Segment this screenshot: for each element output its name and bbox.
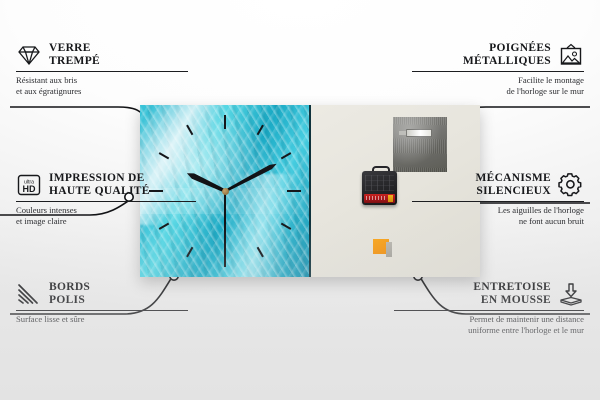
callout-subtitle: Couleurs intenses et image claire	[16, 205, 196, 226]
callout-title-line1: BORDS	[49, 281, 90, 293]
callout-title-line2: HAUTE QUALITÉ	[49, 185, 150, 197]
callout-subtitle-line1: Surface lisse et sûre	[16, 314, 85, 324]
ultra-hd-icon: ultra HD	[16, 173, 42, 197]
foam-spacer-icon	[558, 282, 584, 306]
battery	[364, 194, 395, 203]
callout-header: BORDS POLIS	[16, 281, 188, 307]
callout-divider	[412, 201, 584, 202]
mechanism-body	[362, 171, 397, 205]
svg-text:HD: HD	[23, 184, 36, 194]
callout-title: IMPRESSION DE HAUTE QUALITÉ	[49, 172, 150, 198]
callout-subtitle-line1: Couleurs intenses	[16, 205, 77, 215]
callout-subtitle-line2: uniforme entre l'horloge et le mur	[468, 325, 584, 335]
callout-subtitle-line2: et aux égratignures	[16, 86, 81, 96]
callout-bords-polis: BORDS POLIS Surface lisse et sûre	[16, 281, 188, 325]
callout-subtitle-line1: Permet de maintenir une distance	[469, 314, 584, 324]
callout-title-line2: TREMPÉ	[49, 55, 100, 67]
clock-center-cap	[222, 188, 229, 195]
callout-title: VERRE TREMPÉ	[49, 42, 100, 68]
callout-subtitle-line1: Facilite le montage	[518, 75, 584, 85]
callout-subtitle-line2: ne font aucun bruit	[519, 216, 584, 226]
callout-title-line1: VERRE	[49, 42, 91, 54]
connector-verre-trempe	[10, 107, 152, 124]
callout-title-line2: SILENCIEUX	[476, 185, 551, 197]
callout-title-line1: IMPRESSION DE	[49, 172, 145, 184]
callout-verre-trempe: VERRE TREMPÉ Résistant aux bris et aux é…	[16, 42, 188, 96]
callout-title-line1: ENTRETOISE	[473, 281, 551, 293]
callout-divider	[16, 71, 188, 72]
callout-title-line1: POIGNÉES	[489, 42, 551, 54]
clock-movement-mechanism	[362, 171, 397, 205]
callout-title-line2: MÉTALLIQUES	[463, 55, 551, 67]
callout-subtitle: Résistant aux bris et aux égratignures	[16, 75, 188, 96]
polished-edges-icon	[16, 282, 42, 306]
clock-tick-3	[225, 190, 301, 192]
callout-title: ENTRETOISE EN MOUSSE	[473, 281, 551, 307]
callout-title: BORDS POLIS	[49, 281, 90, 307]
infographic-canvas: VERRE TREMPÉ Résistant aux bris et aux é…	[0, 0, 600, 400]
callout-header: POIGNÉES MÉTALLIQUES	[412, 42, 584, 68]
callout-title-line1: MÉCANISME	[475, 172, 551, 184]
callout-poignees-metalliques: POIGNÉES MÉTALLIQUES Facilite le montage…	[412, 42, 584, 96]
clock-tick-12	[224, 115, 226, 191]
callout-title: MÉCANISME SILENCIEUX	[475, 172, 551, 198]
callout-header: MÉCANISME SILENCIEUX	[412, 172, 584, 198]
callout-subtitle-line2: et image claire	[16, 216, 67, 226]
callout-mecanisme-silencieux: MÉCANISME SILENCIEUX Les aiguilles de l'…	[412, 172, 584, 226]
callout-subtitle-line1: Les aiguilles de l'horloge	[498, 205, 584, 215]
callout-title-line2: POLIS	[49, 294, 85, 306]
callout-title: POIGNÉES MÉTALLIQUES	[463, 42, 551, 68]
metal-hanger-plate	[393, 117, 447, 172]
callout-subtitle: Facilite le montage de l'horloge sur le …	[412, 75, 584, 96]
callout-divider	[16, 201, 196, 202]
diamond-icon	[16, 43, 42, 67]
callout-entretoise-en-mousse: ENTRETOISE EN MOUSSE Permet de maintenir…	[394, 281, 584, 335]
clock-second-hand	[224, 191, 226, 257]
callout-subtitle-line1: Résistant aux bris	[16, 75, 77, 85]
foam-spacer	[373, 239, 389, 254]
callout-divider	[412, 71, 584, 72]
callout-header: VERRE TREMPÉ	[16, 42, 188, 68]
callout-subtitle: Surface lisse et sûre	[16, 314, 188, 325]
callout-title-line2: EN MOUSSE	[481, 294, 551, 306]
gear-icon	[558, 173, 584, 197]
callout-impression-haute-qualite: ultra HD IMPRESSION DE HAUTE QUALITÉ Cou…	[16, 172, 196, 226]
callout-divider	[394, 310, 584, 311]
callout-header: ENTRETOISE EN MOUSSE	[394, 281, 584, 307]
callout-subtitle-line2: de l'horloge sur le mur	[507, 86, 584, 96]
callout-divider	[16, 310, 188, 311]
hanger-slot	[406, 129, 432, 137]
callout-subtitle: Les aiguilles de l'horloge ne font aucun…	[412, 205, 584, 226]
callout-subtitle: Permet de maintenir une distance uniform…	[394, 314, 584, 335]
mechanism-grille	[365, 175, 394, 191]
callout-header: ultra HD IMPRESSION DE HAUTE QUALITÉ	[16, 172, 196, 198]
picture-frame-hook-icon	[558, 43, 584, 67]
battery-label	[366, 196, 386, 200]
